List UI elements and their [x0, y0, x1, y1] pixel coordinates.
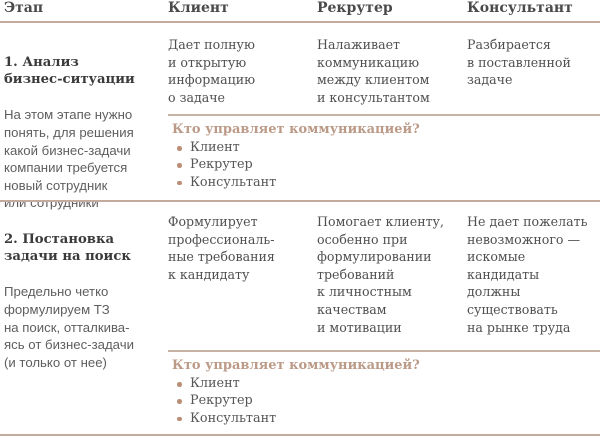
- table-row: 2. Постановка задачи на поиск Предельно …: [4, 213, 164, 389]
- list-item-label: Рекрутер: [190, 393, 253, 408]
- list-item: Клиент: [168, 139, 588, 156]
- communication-block-1: Кто управляет коммуникацией? Клиент Рекр…: [168, 121, 588, 191]
- communication-block-2: Кто управляет коммуникацией? Клиент Рекр…: [168, 357, 588, 427]
- cell-consultant-2: Не дает пожелать невозможного — искомые …: [467, 213, 597, 336]
- cell-recruiter-2: Помогает клиенту, особенно при формулиро…: [317, 213, 465, 336]
- stage-title: 1. Анализ бизнес-ситуации: [4, 54, 164, 89]
- column-header-client: Клиент: [168, 0, 313, 17]
- table-bottom-divider: [0, 434, 600, 436]
- cell-client-2: Формулирует профессиональ- ные требовани…: [168, 213, 313, 283]
- communication-title: Кто управляет коммуникацией?: [172, 121, 588, 138]
- communication-divider-1: [168, 114, 600, 116]
- list-item: Консультант: [168, 410, 588, 427]
- list-item: Консультант: [168, 174, 588, 191]
- stage-description: На этом этапе нужно понять, для решения …: [4, 106, 164, 212]
- bullet-icon: [177, 163, 182, 168]
- column-header-stage: Этап: [4, 0, 164, 17]
- bullet-icon: [177, 181, 182, 186]
- list-item-label: Клиент: [190, 140, 240, 155]
- stage-description: Предельно четко формулируем ТЗ на поиск,…: [4, 283, 164, 371]
- stage-title: 2. Постановка задачи на поиск: [4, 231, 164, 266]
- communication-list-1: Клиент Рекрутер Консультант: [168, 139, 588, 191]
- column-header-recruiter: Рекрутер: [317, 0, 465, 17]
- list-item-label: Консультант: [190, 175, 276, 190]
- communication-divider-2: [168, 350, 600, 352]
- list-item: Клиент: [168, 375, 588, 392]
- cell-client-1: Дает полную и открытую информацию о зада…: [168, 36, 313, 106]
- list-item-label: Клиент: [190, 376, 240, 391]
- communication-list-2: Клиент Рекрутер Консультант: [168, 375, 588, 427]
- bullet-icon: [177, 417, 182, 422]
- header-divider: [0, 21, 600, 23]
- cell-consultant-1: Разбирается в поставленной задаче: [467, 36, 597, 89]
- table-header-row: Этап Клиент Рекрутер Консультант: [0, 0, 600, 20]
- bullet-icon: [177, 399, 182, 404]
- bullet-icon: [177, 146, 182, 151]
- bullet-icon: [177, 382, 182, 387]
- row-divider-1: [0, 200, 600, 202]
- list-item-label: Консультант: [190, 411, 276, 426]
- list-item: Рекрутер: [168, 392, 588, 409]
- column-header-consultant: Консультант: [467, 0, 597, 17]
- list-item: Рекрутер: [168, 156, 588, 173]
- cell-recruiter-1: Налаживает коммуникацию между клиентом и…: [317, 36, 465, 106]
- communication-title: Кто управляет коммуникацией?: [172, 357, 588, 374]
- stages-table: Этап Клиент Рекрутер Консультант 1. Анал…: [0, 0, 600, 440]
- list-item-label: Рекрутер: [190, 157, 253, 172]
